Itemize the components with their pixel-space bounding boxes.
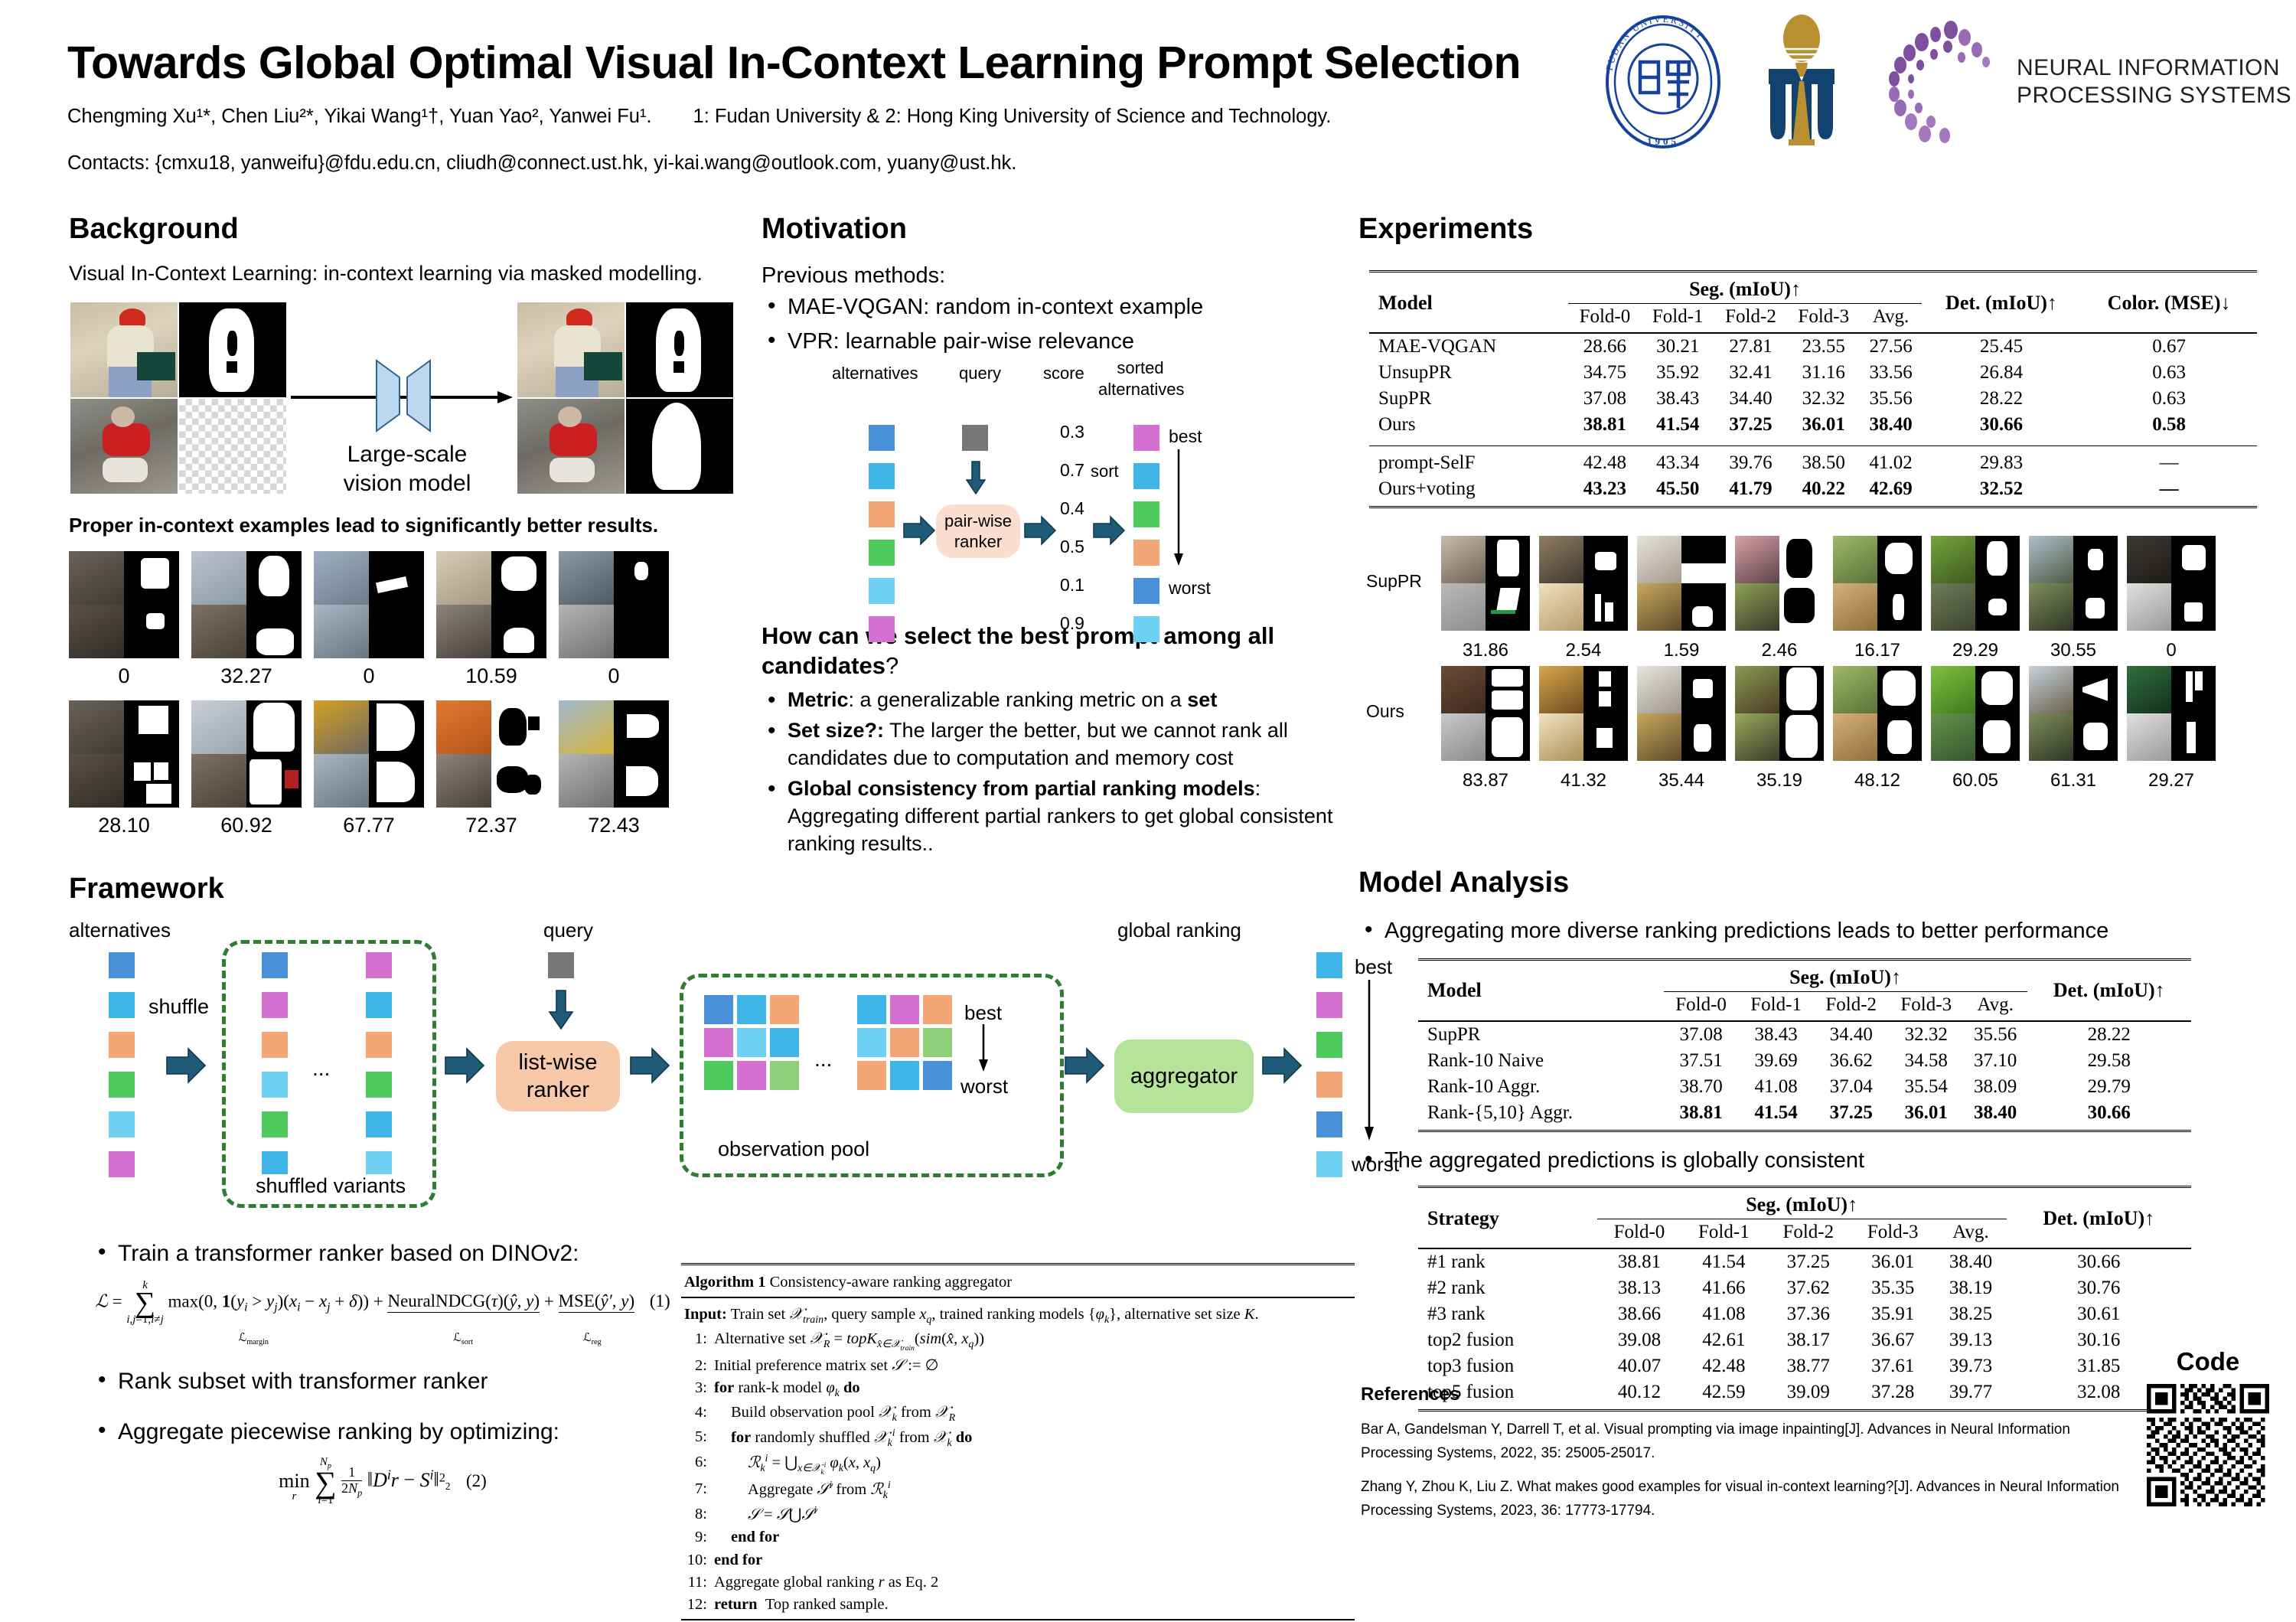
algorithm-title-bold: Algorithm 1	[684, 1274, 765, 1291]
line-number: 12:	[681, 1594, 714, 1616]
qual-cell	[1833, 666, 1922, 761]
score-label: 48.12	[1833, 770, 1922, 791]
background-caption: Proper in-context examples lead to signi…	[69, 514, 742, 537]
alternative-swatch	[109, 1151, 135, 1177]
cell-value: 32.32	[1889, 1021, 1964, 1048]
qual-cell	[1931, 666, 2020, 761]
col-header-det: Det. (mIoU)↑	[2027, 964, 2192, 1018]
motivation-bullets: Metric: a generalizable ranking metric o…	[762, 687, 1351, 857]
pool-swatch	[704, 1061, 733, 1090]
algorithm-line: 3:for rank-k model φk do	[681, 1377, 1355, 1402]
line-text: end for	[714, 1549, 762, 1571]
cell-strategy: #2 rank	[1418, 1275, 1597, 1301]
score-label: 35.44	[1637, 770, 1726, 791]
alternative-swatch	[869, 616, 895, 642]
score-label: 28.10	[69, 814, 179, 837]
example-cell	[436, 551, 546, 658]
cell-value: 36.01	[1851, 1248, 1935, 1275]
cell-det: 32.52	[1922, 476, 2081, 502]
example-cell	[69, 551, 179, 658]
score-label: 10.59	[436, 664, 546, 688]
list-item: Set size?: The larger the better, but we…	[762, 717, 1351, 772]
masked-modelling-figure: Large-scale vision model	[69, 302, 742, 501]
arrow-to-scores	[1023, 515, 1057, 550]
cell-det: 30.76	[2007, 1275, 2191, 1301]
sorted-alternatives-column	[1133, 425, 1159, 642]
poster-root: Towards Global Optimal Visual In-Context…	[0, 0, 2296, 1531]
framework-section: Framework	[69, 873, 1370, 906]
photo-tile	[517, 399, 625, 494]
pool-swatch	[923, 995, 952, 1024]
model-analysis-title: Model Analysis	[1358, 866, 2277, 899]
qual-cell	[2127, 536, 2216, 631]
affiliations: 1: Fudan University & 2: Hong King Unive…	[652, 106, 1332, 127]
score-label: 31.86	[1441, 640, 1530, 661]
cell-value: 41.54	[1739, 1100, 1814, 1126]
worst-label: worst	[1169, 578, 1211, 599]
cell-value: 36.01	[1787, 412, 1860, 438]
cell-value: 37.25	[1814, 1100, 1889, 1126]
line-text: for rank-k model φk do	[714, 1377, 860, 1402]
ranker-line1: pair-wise	[944, 511, 1012, 532]
algorithm-line: 7:Aggregate 𝒮i from ℛki	[681, 1478, 1355, 1503]
cell-model: MAE-VQGAN	[1369, 333, 1568, 360]
ellipsis-variants: ...	[312, 1056, 330, 1081]
label-sorted-line2: alternatives	[1098, 379, 1182, 400]
col-subheader: Fold-0	[1664, 991, 1739, 1018]
cell-value: 37.08	[1664, 1021, 1739, 1048]
framework-bullet-list-3: Aggregate piecewise ranking by optimizin…	[92, 1417, 673, 1447]
list-item: The aggregated predictions is globally c…	[1358, 1146, 2277, 1176]
cell-strategy: top3 fusion	[1418, 1353, 1597, 1379]
score-value: 0.3	[1060, 422, 1084, 460]
variant-swatch	[366, 1032, 392, 1058]
model-analysis-table-2: Strategy Seg. (mIoU)↑ Det. (mIoU)↑ Fold-…	[1418, 1186, 2191, 1411]
col-header-model: Model	[1369, 276, 1568, 330]
qual-cell	[1539, 536, 1628, 631]
alternatives-column	[869, 425, 895, 642]
previous-methods-list: MAE-VQGAN: random in-context example VPR…	[762, 292, 1351, 357]
alternative-swatch	[109, 1111, 135, 1137]
background-section: Background Visual In-Context Learning: i…	[69, 213, 742, 837]
col-subheader: Avg.	[1860, 304, 1921, 331]
cell-value: 27.56	[1860, 333, 1921, 360]
pool-swatch	[890, 1028, 919, 1057]
cell-value: 43.34	[1642, 446, 1714, 477]
cell-value: 38.09	[1964, 1074, 2027, 1100]
line-text: for randomly shuffled 𝒳ki from 𝒳k do	[714, 1426, 972, 1451]
pool-swatch	[704, 995, 733, 1024]
qr-code[interactable]	[2143, 1384, 2273, 1510]
line-number: 8:	[681, 1503, 714, 1526]
qual-row-label-ours: Ours	[1366, 701, 1404, 722]
vision-model-label-line2: vision model	[338, 469, 476, 498]
alternative-swatch	[109, 1072, 135, 1098]
list-item: Aggregating more diverse ranking predict…	[1358, 916, 2277, 946]
col-header-strategy: Strategy	[1418, 1191, 1597, 1245]
col-subheader: Fold-0	[1597, 1219, 1681, 1246]
framework-diagram: alternatives query global ranking shuffl…	[69, 919, 1385, 1240]
qual-cell	[1735, 666, 1824, 761]
table-row: Rank-{5,10} Aggr.38.8141.5437.2536.0138.…	[1418, 1100, 2191, 1126]
algorithm-box: Algorithm 1 Consistency-aware ranking ag…	[681, 1263, 1355, 1622]
cell-value: 38.40	[1860, 412, 1921, 438]
cell-value: 39.08	[1597, 1327, 1681, 1353]
framework-bullets: Train a transformer ranker based on DINO…	[92, 1239, 673, 1506]
cell-det: 30.66	[2007, 1248, 2191, 1275]
arrow-query-down	[965, 460, 987, 499]
poster-header: Towards Global Optimal Visual In-Context…	[67, 40, 1698, 175]
cell-value: 38.40	[1935, 1248, 2006, 1275]
cell-value: 39.73	[1935, 1353, 2006, 1379]
alternative-swatch	[869, 425, 895, 451]
cell-value: 31.16	[1787, 360, 1860, 386]
col-subheader: Avg.	[1964, 991, 2027, 1018]
line-text: Alternative set 𝒳R = topKx̂∈𝒳train(sim(x…	[714, 1328, 984, 1354]
neurips-swirl-icon	[1871, 15, 2006, 149]
framework-bullet-list-2: Rank subset with transformer ranker	[92, 1366, 673, 1397]
line-number: 1:	[681, 1328, 714, 1354]
arrow-to-pool	[629, 1047, 670, 1088]
cell-value: 38.17	[1766, 1327, 1851, 1353]
cell-det: 29.83	[1922, 446, 2081, 477]
score-value: 0.5	[1060, 537, 1084, 575]
cell-det: 28.22	[1922, 386, 2081, 412]
cell-det: 30.66	[2027, 1100, 2192, 1126]
global-rank-swatch	[1316, 1111, 1342, 1137]
label-alternatives: alternatives	[69, 919, 171, 942]
line-text: ℛki = ⋃x∈𝒳ki φk(x, xq)	[714, 1451, 881, 1478]
cell-color: 0.58	[2081, 412, 2257, 438]
cell-model: SupPR	[1418, 1021, 1664, 1048]
score-label: 16.17	[1833, 640, 1922, 661]
bullet-lead: Set size?:	[788, 719, 884, 742]
photo-tile	[70, 399, 178, 494]
pool-best-label: best	[964, 1001, 1002, 1025]
pool-worst-label: worst	[960, 1075, 1008, 1098]
global-rank-swatch	[1316, 1151, 1342, 1177]
table-row: MAE-VQGAN28.6630.2127.8123.5527.5625.450…	[1369, 333, 2257, 360]
cell-value: 38.66	[1597, 1301, 1681, 1327]
variant-swatch	[262, 1111, 288, 1137]
photo-tile	[517, 302, 625, 397]
cell-value: 36.01	[1889, 1100, 1964, 1126]
equation-2: minr Np∑i=1 12Np ‖Dir − Si‖22 (2)	[92, 1457, 673, 1506]
cell-strategy: #1 rank	[1418, 1248, 1597, 1275]
hkust-logo	[1752, 11, 1851, 152]
cell-value: 32.41	[1714, 360, 1787, 386]
cell-value: 34.40	[1714, 386, 1787, 412]
cell-strategy: #3 rank	[1418, 1301, 1597, 1327]
logo-row: 1905 FUDAN UNIVERSITY	[1594, 11, 2291, 152]
variant-swatch	[366, 1072, 392, 1098]
cell-value: 38.19	[1935, 1275, 2006, 1301]
col-subheader: Fold-2	[1714, 304, 1787, 331]
cell-model: Rank-10 Aggr.	[1418, 1074, 1664, 1100]
qualitative-results: SupPR Ours 31.86 2.54 1.59 2.46 16.17 29…	[1358, 528, 2269, 796]
neurips-logo: NEURAL INFORMATION PROCESSING SYSTEMS	[1871, 15, 2291, 149]
example-cell	[191, 551, 302, 658]
cell-value: 34.58	[1889, 1048, 1964, 1074]
cell-value: 45.50	[1642, 476, 1714, 502]
qual-row-label-suppr: SupPR	[1366, 571, 1422, 592]
qual-cell	[1931, 536, 2020, 631]
mask-tile	[626, 302, 733, 397]
vision-model-label-line1: Large-scale	[338, 440, 476, 469]
cell-value: 41.66	[1681, 1275, 1766, 1301]
experiments-section: Experiments Model Seg. (mIoU)↑ Det. (mIo…	[1358, 213, 2269, 796]
cell-value: 32.32	[1787, 386, 1860, 412]
col-header-color: Color. (MSE)↓	[2081, 276, 2257, 330]
example-grid-row1-scores: 0 32.27 0 10.59 0	[69, 664, 742, 688]
cell-value: 40.07	[1597, 1353, 1681, 1379]
arrow-to-global-ranking	[1261, 1047, 1303, 1088]
cell-det: 30.61	[2007, 1301, 2191, 1327]
bullet-lead: Metric	[788, 688, 849, 711]
fudan-seal-icon: 1905 FUDAN UNIVERSITY	[1594, 13, 1732, 151]
algorithm-line: 9:end for	[681, 1526, 1355, 1549]
sorted-swatch	[1133, 425, 1159, 451]
col-subheader: Fold-3	[1889, 991, 1964, 1018]
variant-swatch	[366, 1111, 392, 1137]
predicted-mask-tile	[626, 399, 733, 494]
motivation-question: How can we select the best prompt among …	[762, 621, 1351, 680]
arrow-to-listwise-ranker	[444, 1047, 485, 1088]
alternative-swatch	[869, 578, 895, 604]
arrow-to-ranker	[902, 515, 936, 550]
cell-value: 37.51	[1664, 1048, 1739, 1074]
references-title: References	[1361, 1384, 2126, 1405]
line-text: Aggregate 𝒮i from ℛki	[714, 1478, 891, 1503]
cell-value: 33.56	[1860, 360, 1921, 386]
cell-value: 35.56	[1964, 1021, 2027, 1048]
score-label: 41.32	[1539, 770, 1628, 791]
col-group-seg: Seg. (mIoU)↑	[1568, 276, 1922, 304]
score-value: 0.7	[1060, 460, 1084, 498]
pool-swatch	[923, 1061, 952, 1090]
cell-det: 30.66	[1922, 412, 2081, 438]
example-cell	[314, 551, 424, 658]
model-analysis-bullet-1: Aggregating more diverse ranking predict…	[1358, 916, 2277, 946]
col-subheader: Fold-0	[1568, 304, 1641, 331]
variant-swatch	[366, 1151, 392, 1177]
table-row: Rank-10 Aggr.38.7041.0837.0435.5438.0929…	[1418, 1074, 2191, 1100]
output-image-grid	[517, 302, 735, 494]
qual-row2-images	[1441, 666, 2216, 761]
sorted-swatch	[1133, 501, 1159, 527]
col-header-det: Det. (mIoU)↑	[2007, 1191, 2191, 1245]
col-group-seg: Seg. (mIoU)↑	[1597, 1191, 2007, 1219]
pool-grid-a	[704, 995, 799, 1090]
cell-value: 38.70	[1664, 1074, 1739, 1100]
list-item: Metric: a generalizable ranking metric o…	[762, 687, 1351, 714]
list-item: Rank subset with transformer ranker	[92, 1366, 673, 1397]
neurips-wordmark: NEURAL INFORMATION PROCESSING SYSTEMS	[2017, 54, 2291, 109]
line-number: 9:	[681, 1526, 714, 1549]
qual-cell	[1637, 666, 1726, 761]
experiments-table: Model Seg. (mIoU)↑ Det. (mIoU)↑ Color. (…	[1369, 270, 2257, 508]
reference-item: Zhang Y, Zhou K, Liu Z. What makes good …	[1361, 1475, 2126, 1523]
pool-swatch	[704, 1028, 733, 1057]
score-label: 29.27	[2127, 770, 2216, 791]
table-row: SupPR37.0838.4334.4032.3235.5628.22	[1418, 1021, 2191, 1048]
ranker-line2: ranker	[944, 531, 1012, 553]
question-mark: ?	[885, 652, 899, 679]
cell-value: 39.76	[1714, 446, 1787, 477]
cell-color: 0.63	[2081, 386, 2257, 412]
algorithm-input-line: Input: Train set 𝒳train, query sample xq…	[681, 1300, 1355, 1328]
table-row: top3 fusion40.0742.4838.7737.6139.7331.8…	[1418, 1353, 2191, 1379]
cell-value: 41.02	[1860, 446, 1921, 477]
references-section: References Bar A, Gandelsman Y, Darrell …	[1361, 1384, 2126, 1522]
label-global-ranking: global ranking	[1117, 919, 1241, 942]
cell-value: 34.40	[1814, 1021, 1889, 1048]
line-text: Build observation pool 𝒳k from 𝒳R	[714, 1402, 955, 1426]
question-bold-text: How can we select the best prompt among …	[762, 622, 1274, 679]
score-label: 30.55	[2029, 640, 2118, 661]
query-swatch	[962, 425, 988, 451]
line-number: 4:	[681, 1402, 714, 1426]
cell-value: 37.61	[1851, 1353, 1935, 1379]
line-text: Initial preference matrix set 𝒮 := ∅	[714, 1355, 938, 1377]
cell-value: 30.21	[1642, 333, 1714, 360]
cell-value: 35.92	[1642, 360, 1714, 386]
author-line: Chengming Xu¹*, Chen Liu²*, Yikai Wang¹†…	[67, 104, 1698, 129]
arrow-to-aggregator	[1064, 1047, 1105, 1088]
model-analysis-section: Model Analysis Aggregating more diverse …	[1358, 866, 2277, 1411]
pairwise-ranker-box: pair-wise ranker	[936, 504, 1020, 558]
algorithm-title-rest: Consistency-aware ranking aggregator	[770, 1274, 1013, 1291]
hkust-icon	[1752, 11, 1851, 148]
example-grid-row1	[69, 551, 742, 658]
algorithm-line: 1:Alternative set 𝒳R = topKx̂∈𝒳train(sim…	[681, 1328, 1355, 1354]
pairwise-ranker-diagram: alternatives query score sorted alternat…	[762, 364, 1351, 616]
algorithm-line: 11:Aggregate global ranking r as Eq. 2	[681, 1571, 1355, 1594]
cell-color: —	[2081, 476, 2257, 502]
alternative-swatch	[869, 501, 895, 527]
alternative-swatch	[869, 540, 895, 566]
cell-model: SupPR	[1369, 386, 1568, 412]
score-label: 67.77	[314, 814, 424, 837]
cell-value: 41.08	[1739, 1074, 1814, 1100]
qual-cell	[1833, 536, 1922, 631]
cell-value: 38.81	[1597, 1248, 1681, 1275]
cell-strategy: top2 fusion	[1418, 1327, 1597, 1353]
checkerboard-mask-tile	[179, 399, 286, 494]
score-label: 0	[314, 664, 424, 688]
alternative-swatch	[869, 463, 895, 489]
cell-value: 35.91	[1851, 1301, 1935, 1327]
sorted-swatch	[1133, 463, 1159, 489]
line-number: 3:	[681, 1377, 714, 1402]
qr-code-icon[interactable]	[2147, 1384, 2269, 1506]
score-label: 35.19	[1735, 770, 1824, 791]
score-value: 0.9	[1060, 613, 1084, 651]
table-row: top2 fusion39.0842.6138.1736.6739.1330.1…	[1418, 1327, 2191, 1353]
global-ranking-column	[1316, 952, 1342, 1177]
cell-value: 38.81	[1568, 412, 1641, 438]
algorithm-line: 6:ℛki = ⋃x∈𝒳ki φk(x, xq)	[681, 1451, 1355, 1478]
cell-color: —	[2081, 446, 2257, 477]
table-row: SupPR37.0838.4334.4032.3235.5628.220.63	[1369, 386, 2257, 412]
qual-row2-scores: 83.87 41.32 35.44 35.19 48.12 60.05 61.3…	[1441, 770, 2216, 791]
qual-row1-images	[1441, 536, 2216, 631]
cell-value: 27.81	[1714, 333, 1787, 360]
variant-swatch	[262, 1151, 288, 1177]
global-rank-swatch	[1316, 992, 1342, 1018]
score-label: 0	[69, 664, 179, 688]
neurips-line-2: PROCESSING SYSTEMS	[2017, 82, 2291, 109]
score-label: 83.87	[1441, 770, 1530, 791]
cell-value: 37.04	[1814, 1074, 1889, 1100]
example-grid-row2-scores: 28.10 60.92 67.77 72.37 72.43	[69, 814, 742, 837]
table-row: Ours38.8141.5437.2536.0138.4030.660.58	[1369, 412, 2257, 438]
shuffled-variant-2	[366, 952, 392, 1177]
pool-swatch	[737, 995, 766, 1024]
cell-value: 41.54	[1681, 1248, 1766, 1275]
algorithm-line: 8:𝒮 = 𝒮⋃𝒮i	[681, 1503, 1355, 1526]
global-rank-swatch	[1316, 1032, 1342, 1058]
cell-model: Ours+voting	[1369, 476, 1568, 502]
cell-value: 37.10	[1964, 1048, 2027, 1074]
line-number: 7:	[681, 1478, 714, 1503]
global-rank-swatch	[1316, 952, 1342, 978]
cell-value: 28.66	[1568, 333, 1641, 360]
algorithm-line: 12:return Top ranked sample.	[681, 1594, 1355, 1616]
cell-value: 37.08	[1568, 386, 1641, 412]
label-sorted-line1: sorted	[1098, 357, 1182, 379]
algorithm-input-text: Train set 𝒳train, query sample xq, train…	[731, 1306, 1259, 1323]
query-swatch	[548, 952, 574, 978]
cell-value: 43.23	[1568, 476, 1641, 502]
cell-value: 38.13	[1597, 1275, 1681, 1301]
label-query: query	[959, 364, 1001, 383]
cell-value: 38.50	[1787, 446, 1860, 477]
pool-swatch	[890, 1061, 919, 1090]
variant-swatch	[262, 952, 288, 978]
qual-cell	[1637, 536, 1726, 631]
score-label: 0	[559, 664, 669, 688]
algorithm-line: 5:for randomly shuffled 𝒳ki from 𝒳k do	[681, 1426, 1355, 1451]
page-title: Towards Global Optimal Visual In-Context…	[67, 40, 1698, 87]
photo-tile	[70, 302, 178, 397]
listwise-line1: list-wise	[518, 1049, 597, 1076]
col-subheader: Fold-2	[1814, 991, 1889, 1018]
cell-model: UnsupPR	[1369, 360, 1568, 386]
shuffled-variant-1	[262, 952, 288, 1177]
example-cell	[436, 700, 546, 808]
pool-swatch	[770, 1061, 799, 1090]
cell-model: Rank-10 Naive	[1418, 1048, 1664, 1074]
qual-row1-scores: 31.86 2.54 1.59 2.46 16.17 29.29 30.55 0	[1441, 640, 2216, 661]
cell-value: 38.77	[1766, 1353, 1851, 1379]
label-alternatives: alternatives	[832, 364, 918, 383]
cell-value: 35.35	[1851, 1275, 1935, 1301]
qual-cell	[1441, 536, 1530, 631]
score-column: 0.3 0.7 0.4 0.5 0.1 0.9	[1060, 422, 1084, 651]
cell-value: 42.48	[1681, 1353, 1766, 1379]
pool-grid-b	[857, 995, 952, 1090]
variant-swatch	[366, 992, 392, 1018]
variant-swatch	[366, 952, 392, 978]
label-sorted-alternatives: sorted alternatives	[1098, 357, 1182, 400]
sorted-swatch	[1133, 616, 1159, 642]
code-label: Code	[2143, 1347, 2273, 1376]
qual-cell	[1539, 666, 1628, 761]
table-row: Rank-10 Naive37.5139.6936.6234.5837.1029…	[1418, 1048, 2191, 1074]
table-row: UnsupPR34.7535.9232.4131.1633.5626.840.6…	[1369, 360, 2257, 386]
line-number: 11:	[681, 1571, 714, 1594]
